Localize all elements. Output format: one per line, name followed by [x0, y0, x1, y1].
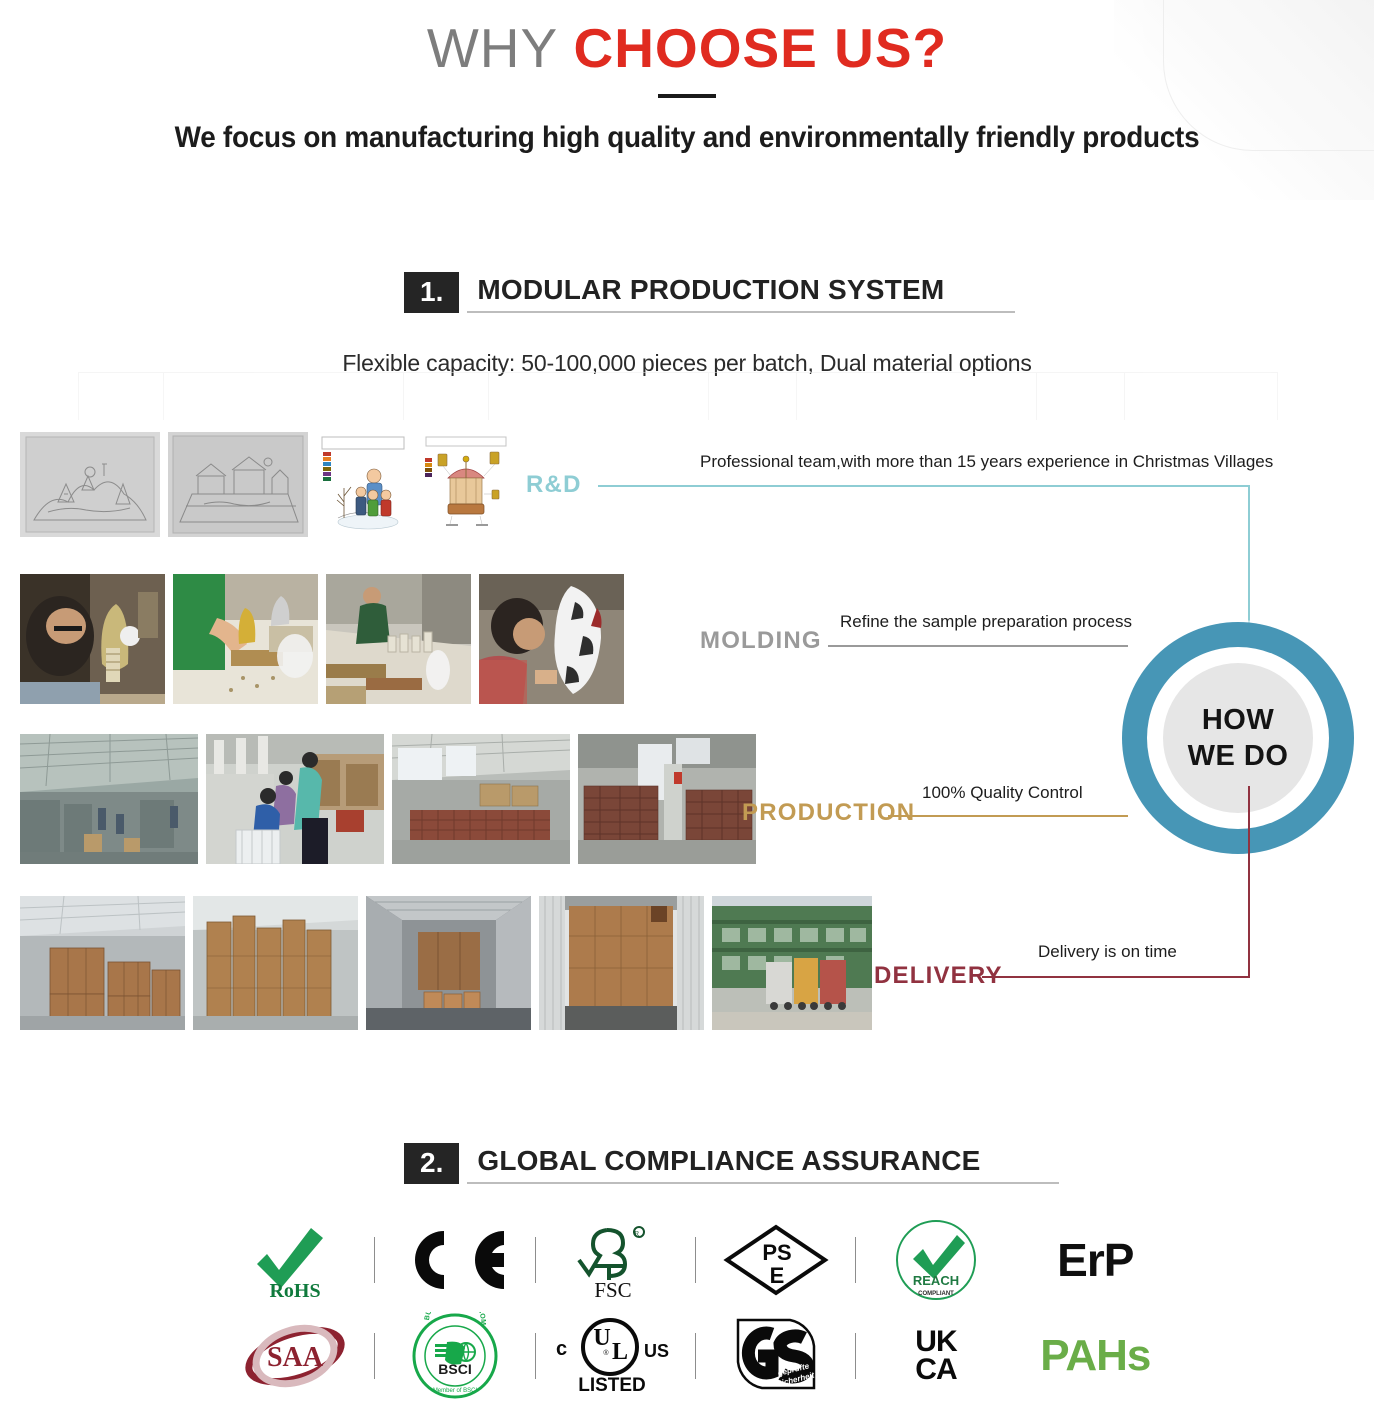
photo-molding-worker-assembling-white-parts	[479, 574, 624, 704]
photo-molding-worker-green-shirt-shaping-clay	[173, 574, 318, 704]
photo-rd-sketch-village-line-drawing-1	[20, 432, 160, 537]
reach-icon: REACH COMPLIANT	[893, 1217, 979, 1303]
page-subtitle: We focus on manufacturing high quality a…	[48, 118, 1326, 158]
cert-ukca: UK CA	[856, 1308, 1015, 1404]
saa-icon: SAA	[241, 1316, 349, 1396]
photo-production-factory-assembly-floor	[20, 734, 198, 864]
photo-delivery-container-fully-loaded	[539, 896, 704, 1030]
connector-elbow-delivery	[1248, 786, 1250, 978]
svg-text:R: R	[635, 1230, 640, 1238]
cert-saa: SAA	[215, 1308, 374, 1404]
cert-rohs: RoHS	[215, 1212, 374, 1308]
how-we-do-inner-ring: HOW WE DO	[1147, 647, 1329, 829]
section-1-title: MODULAR PRODUCTION SYSTEM	[459, 272, 1015, 311]
erp-label: ErP	[1057, 1233, 1133, 1287]
photo-rd-sketch-village-line-drawing-2	[168, 432, 308, 537]
section-2-title: GLOBAL COMPLIANCE ASSURANCE	[459, 1143, 1059, 1182]
ukca-line1: UK	[915, 1328, 956, 1356]
stage-label-rd: R&D	[526, 471, 582, 499]
cert-gs: geprüfte Sicherheit	[696, 1308, 855, 1404]
photo-production-racks-of-finished-units	[578, 734, 756, 864]
svg-text:LISTED: LISTED	[579, 1375, 647, 1396]
certifications-row-1: RoHS	[215, 1212, 1175, 1308]
photo-molding-worker-sculpting-tree-model	[20, 574, 165, 704]
background-grid-decoration	[78, 372, 1278, 420]
hero-section: WHY CHOOSE US? We focus on manufacturing…	[0, 18, 1374, 157]
svg-text:BSCI: BSCI	[438, 1361, 471, 1377]
photo-delivery-tall-carton-pallets	[193, 896, 358, 1030]
svg-text:REACH: REACH	[913, 1273, 959, 1288]
photo-production-warehouse-stacked-goods	[392, 734, 570, 864]
rohs-icon: RoHS	[245, 1220, 345, 1300]
stage-label-molding: MOLDING	[700, 627, 822, 655]
stage-note-rd: Professional team,with more than 15 year…	[700, 452, 1273, 472]
svg-text:US: US	[644, 1341, 669, 1361]
page-title: WHY CHOOSE US?	[0, 18, 1374, 80]
section-2-number: 2.	[404, 1143, 459, 1184]
title-underline-rule	[658, 94, 716, 98]
fsc-icon: R FSC	[569, 1220, 661, 1300]
svg-text:PS: PS	[762, 1240, 791, 1265]
ul-listed-icon: c U L ® US LISTED	[550, 1315, 680, 1397]
section-2-header: 2. GLOBAL COMPLIANCE ASSURANCE	[404, 1143, 1059, 1184]
pahs-label: PAHs	[1040, 1331, 1150, 1381]
cert-ce	[375, 1212, 534, 1308]
svg-text:®: ®	[604, 1349, 610, 1357]
connector-line-delivery	[982, 976, 1250, 978]
how-we-do-badge: HOW WE DO	[1122, 622, 1354, 854]
photo-delivery-empty-container-loading	[366, 896, 531, 1030]
photo-molding-workbench-row-of-figurines	[326, 574, 471, 704]
connector-line-production	[888, 815, 1128, 817]
stage-note-production: 100% Quality Control	[922, 783, 1083, 803]
cert-pahs: PAHs	[1016, 1308, 1175, 1404]
stage-note-molding: Refine the sample preparation process	[840, 612, 1132, 632]
svg-text:RoHS: RoHS	[269, 1280, 320, 1300]
how-we-do-core: HOW WE DO	[1163, 663, 1313, 813]
bsci-icon: BUSINESS SOCIAL COMPLIANCE INITIATIVE BS…	[411, 1312, 499, 1400]
ce-icon	[400, 1225, 510, 1295]
section-1-underline	[467, 311, 1015, 313]
svg-text:U: U	[594, 1325, 611, 1351]
why-choose-us-page: WHY CHOOSE US? We focus on manufacturing…	[0, 0, 1374, 1407]
cert-erp: ErP	[1016, 1212, 1175, 1308]
stage-note-delivery: Delivery is on time	[1038, 942, 1177, 962]
page-title-choose-us: CHOOSE US?	[573, 17, 947, 79]
ukca-line2: CA	[915, 1356, 956, 1384]
cert-ul-listed: c U L ® US LISTED	[536, 1308, 695, 1404]
pse-icon: PS E	[721, 1223, 831, 1297]
page-title-why: WHY	[427, 17, 574, 79]
molding-photo-row	[20, 574, 624, 704]
svg-text:Member of BSCI: Member of BSCI	[433, 1388, 478, 1394]
delivery-photo-row	[20, 896, 872, 1030]
photo-rd-color-design-carousel-exploded-view	[418, 432, 514, 537]
section-1-header: 1. MODULAR PRODUCTION SYSTEM	[404, 272, 1015, 313]
photo-production-qc-inspection-line	[206, 734, 384, 864]
stage-label-production: PRODUCTION	[742, 799, 915, 827]
certifications-grid: RoHS	[215, 1212, 1175, 1404]
section-1-number: 1.	[404, 272, 459, 313]
svg-text:COMPLIANT: COMPLIANT	[918, 1291, 954, 1297]
svg-text:c: c	[556, 1338, 567, 1360]
cert-reach: REACH COMPLIANT	[856, 1212, 1015, 1308]
cert-pse: PS E	[696, 1212, 855, 1308]
photo-rd-color-design-snow-scene-figures	[316, 432, 410, 537]
production-photo-row	[20, 734, 756, 864]
cert-fsc: R FSC	[536, 1212, 695, 1308]
rd-photo-row	[20, 432, 514, 537]
cert-bsci: BUSINESS SOCIAL COMPLIANCE INITIATIVE BS…	[375, 1308, 534, 1404]
photo-delivery-trucks-at-factory-yard	[712, 896, 872, 1030]
certifications-row-2: SAA BUSINESS SOCIAL COMPLIANCE INITIATIV…	[215, 1308, 1175, 1404]
svg-text:SAA: SAA	[267, 1342, 324, 1373]
connector-line-molding	[828, 645, 1128, 647]
photo-delivery-carton-stacks-warehouse	[20, 896, 185, 1030]
svg-text:E: E	[769, 1263, 784, 1288]
how-we-do-line2: WE DO	[1188, 741, 1289, 771]
gs-icon: geprüfte Sicherheit	[728, 1316, 824, 1396]
connector-line-rd	[598, 485, 1250, 487]
section-2-underline	[467, 1182, 1059, 1184]
how-we-do-line1: HOW	[1202, 705, 1274, 735]
svg-text:FSC: FSC	[595, 1278, 632, 1300]
svg-text:L: L	[612, 1339, 628, 1365]
